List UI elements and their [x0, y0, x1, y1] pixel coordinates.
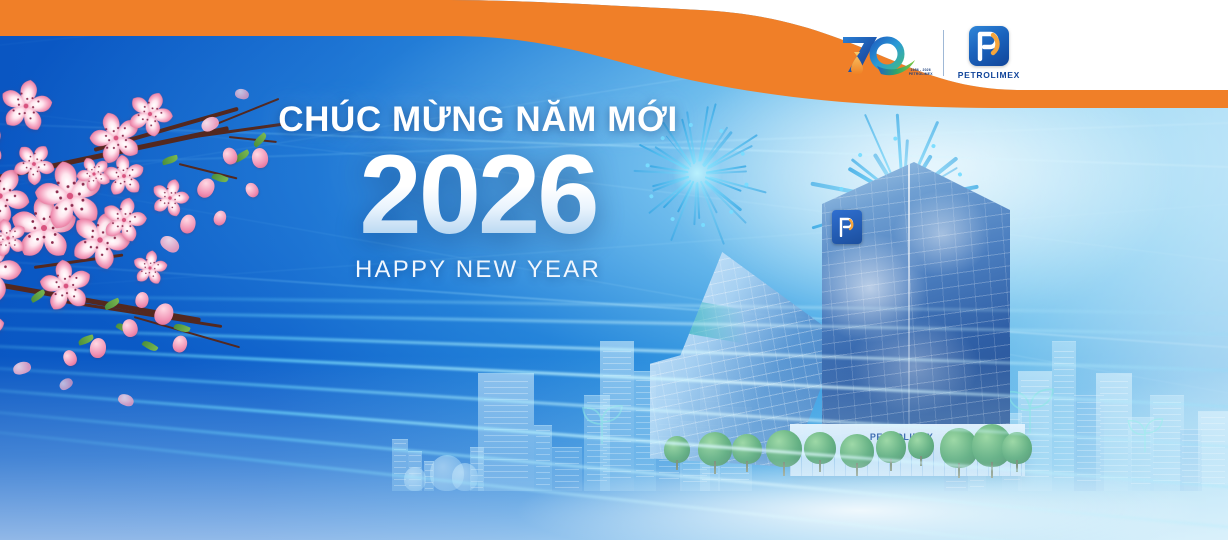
- new-year-banner: PETROLIMEX CHÚC MỪNG NĂM MỚI 2026 HAPPY …: [0, 0, 1228, 540]
- blossom-bud: [212, 209, 228, 227]
- petrolimex-logo-mark: [969, 26, 1009, 66]
- blossom-flower: [130, 248, 170, 288]
- blossom-bud: [243, 181, 261, 200]
- petrolimex-wordmark: PETROLIMEX: [958, 70, 1020, 80]
- subtitle: HAPPY NEW YEAR: [278, 256, 678, 284]
- year-number: 2026: [278, 142, 678, 248]
- blossom-flower: [0, 216, 30, 260]
- blossom-flower: [36, 256, 96, 316]
- branch: [174, 123, 283, 141]
- blossom-bud: [134, 291, 150, 309]
- header-logos: 1956 - 2026 PETROLIMEX PETROLIMEX: [837, 26, 1020, 80]
- petrolimex-brand-logo: PETROLIMEX: [958, 26, 1020, 80]
- blossom-flower: [0, 300, 8, 356]
- falling-petal: [12, 360, 33, 376]
- blossom-bud: [120, 317, 139, 338]
- top-wave-band: [0, 0, 1228, 110]
- blossom-bud: [61, 348, 79, 368]
- logo-divider: [943, 30, 944, 76]
- headline-block: CHÚC MỪNG NĂM MỚI 2026 HAPPY NEW YEAR: [278, 100, 678, 284]
- blossom-bud: [171, 334, 190, 354]
- blossom-bud: [251, 147, 270, 169]
- anniversary-caption: 1956 - 2026 PETROLIMEX: [909, 68, 933, 77]
- leaf: [141, 339, 158, 354]
- blossom-flower: [74, 154, 114, 194]
- leaf: [161, 155, 178, 166]
- blossom-flower: [148, 176, 192, 220]
- 70-years-anniversary-logo: 1956 - 2026 PETROLIMEX: [837, 28, 929, 78]
- blossom-bud: [89, 337, 108, 359]
- blossom-bud: [221, 146, 240, 167]
- blossom-flower: [10, 140, 58, 188]
